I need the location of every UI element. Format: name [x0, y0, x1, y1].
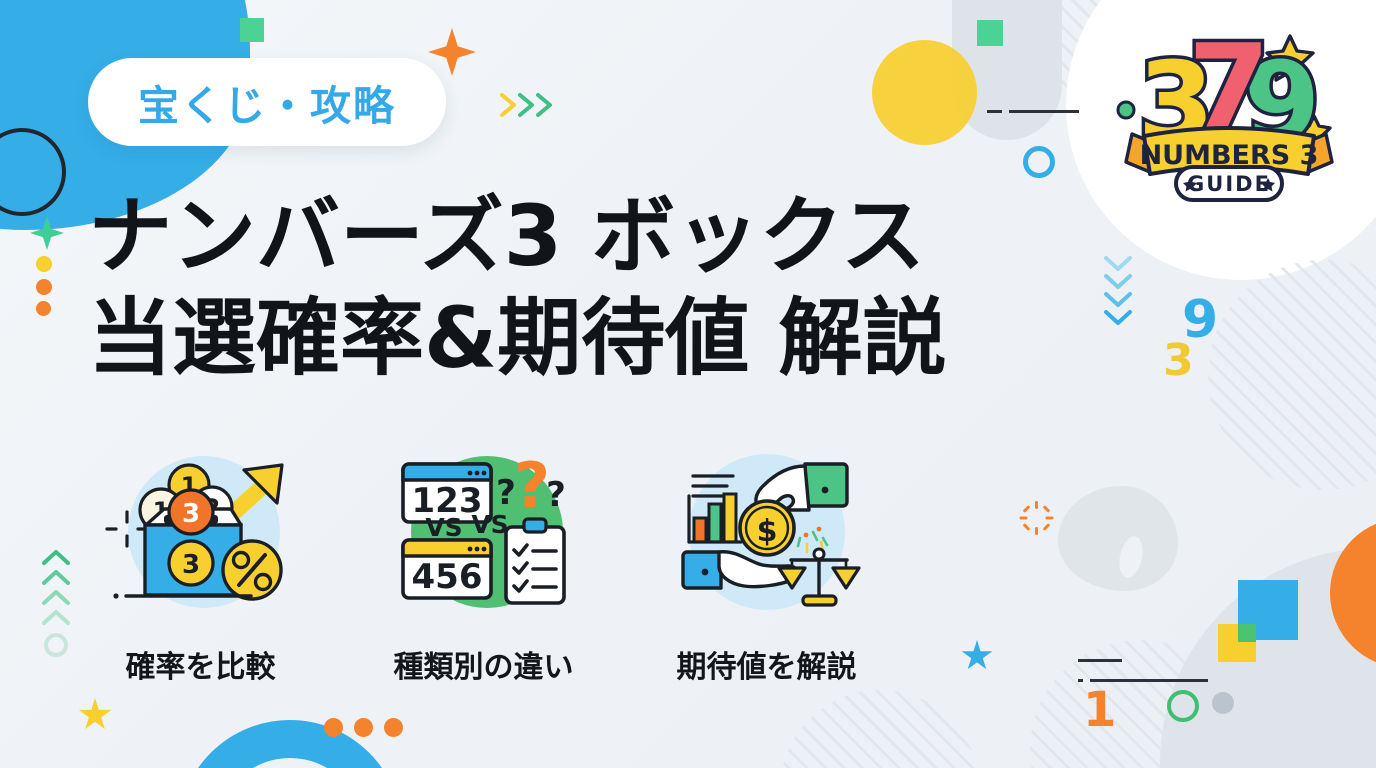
green-ring-decoration [1167, 690, 1199, 722]
logo-pill-text: GUIDE [1187, 172, 1271, 196]
feature-list: 1 1 2 3 3 [88, 432, 928, 686]
yellow-star-icon [78, 698, 112, 732]
svg-text:456: 456 [411, 557, 482, 597]
poster-canvas: 9 3 1 宝くじ・攻略 ナンバーズ3 ボックス 当選確率&期待値 解説 [0, 0, 1376, 768]
number-comparison-icon: 123 456 VS VS ? ? ? [384, 432, 584, 632]
dot-decoration-3 [36, 301, 51, 316]
svg-text:VS: VS [425, 513, 462, 542]
dot-decoration-4 [324, 718, 343, 737]
short-line-decoration [1078, 659, 1122, 662]
brand-logo[interactable]: 3 9 7 NUMBERS 3 GUIDE [1104, 12, 1354, 212]
decoration-number-1: 1 [1083, 682, 1116, 738]
svg-text:3: 3 [181, 550, 199, 580]
feature-caption-expected-value: 期待値を解説 [677, 642, 857, 686]
striped-circle-middle-right [1208, 260, 1376, 490]
feature-caption-types: 種類別の違い [394, 642, 574, 686]
striped-circle-bottom-middle [780, 690, 980, 768]
green-square-decoration-top [977, 20, 1003, 46]
category-badge[interactable]: 宝くじ・攻略 [88, 58, 446, 146]
green-square-decoration-left [240, 18, 264, 42]
right-chevrons-icon [498, 90, 560, 120]
svg-text:?: ? [546, 475, 566, 515]
dot-decoration-6 [384, 718, 403, 737]
feature-item-expected-value: $ [654, 432, 879, 686]
dot-decoration-1 [36, 256, 52, 272]
svg-text:$: $ [756, 514, 777, 549]
green-square-overlap-decoration [1238, 624, 1256, 642]
dot-decoration-2 [36, 279, 52, 295]
ballot-box-probability-icon: 1 1 2 3 3 [101, 432, 301, 632]
orange-sparkle-icon [428, 28, 476, 76]
page-title-line-1: ナンバーズ3 ボックス [88, 185, 1068, 287]
category-badge-label: 宝くじ・攻略 [138, 72, 396, 132]
dash-decoration-short [987, 110, 1002, 113]
dot-decoration-5 [354, 718, 373, 737]
up-chevrons-icon [36, 545, 76, 665]
dash-decoration-long [1009, 110, 1079, 113]
yellow-circle-decoration [872, 40, 977, 145]
svg-text:?: ? [496, 473, 516, 513]
gray-dot-decoration [1212, 692, 1234, 714]
svg-text:VS: VS [471, 510, 508, 539]
svg-text:3: 3 [181, 499, 199, 529]
feature-item-probability: 1 1 2 3 3 [88, 432, 313, 686]
svg-text:?: ? [514, 449, 550, 522]
page-title: ナンバーズ3 ボックス 当選確率&期待値 解説 [88, 185, 1068, 390]
feature-caption-probability: 確率を比較 [126, 642, 276, 686]
feature-item-types: 123 456 VS VS ? ? ? [371, 432, 596, 686]
page-title-line-2: 当選確率&期待値 解説 [88, 287, 1068, 389]
blue-star-icon [961, 640, 993, 672]
expected-value-coin-scale-icon: $ [667, 432, 867, 632]
blue-ring-decoration [1023, 146, 1055, 178]
gray-blob-decoration [1058, 486, 1178, 591]
down-chevrons-icon [1098, 252, 1138, 328]
orange-burst-icon [1022, 503, 1052, 533]
decoration-number-3: 3 [1163, 335, 1194, 386]
